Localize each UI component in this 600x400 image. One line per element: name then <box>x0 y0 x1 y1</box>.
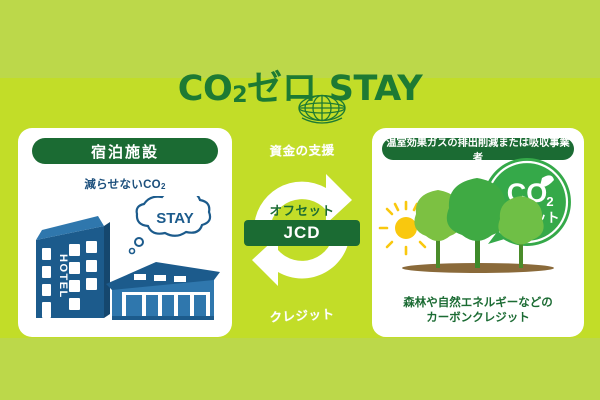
tree-center <box>447 178 507 268</box>
unreducible-co2-subscript: 2 <box>161 182 166 191</box>
caption-line-2: カーボンクレジット <box>372 311 584 327</box>
svg-text:2: 2 <box>546 194 553 209</box>
carbon-credit-caption: 森林や自然エネルギーなどの カーボンクレジット <box>372 296 584 327</box>
hotel-sign-label: HOTEL <box>57 254 69 299</box>
accommodation-card-header: 宿泊施設 <box>32 138 218 164</box>
ghg-reducer-card: 温室効果ガスの排出削減または吸収事業者 CO 2 オフセット <box>372 128 584 337</box>
title-co: CO <box>178 69 232 109</box>
hotel-building-icon: HOTEL <box>26 196 224 328</box>
accommodation-card: 宿泊施設 減らせないCO2 <box>18 128 232 337</box>
title-stay: STAY <box>329 69 422 109</box>
offset-cycle: 資金の支援 オフセット JCD クレジット <box>240 138 364 324</box>
unreducible-co2-note: 減らせないCO2 <box>18 176 232 192</box>
page-title: CO2ゼロ STAY <box>178 72 422 107</box>
caption-line-1: 森林や自然エネルギーなどの <box>372 296 584 312</box>
unreducible-co2-text: 減らせないCO <box>84 179 161 191</box>
stay-bubble-label: STAY <box>156 210 194 227</box>
tree-right <box>498 196 543 268</box>
title-subscript: 2 <box>232 83 247 108</box>
funding-support-label: 資金の支援 <box>240 139 364 160</box>
title-zero: ゼロ <box>247 69 317 109</box>
credit-label: クレジット <box>240 302 365 327</box>
title-area: CO2ゼロ STAY <box>0 62 600 116</box>
offset-label: オフセット <box>240 200 364 219</box>
forest-sun-icon: CO 2 オフセット <box>376 156 580 276</box>
jcd-badge: JCD <box>244 220 360 246</box>
infographic-canvas: CO2ゼロ STAY 宿泊施設 減らせないCO2 <box>0 0 600 400</box>
